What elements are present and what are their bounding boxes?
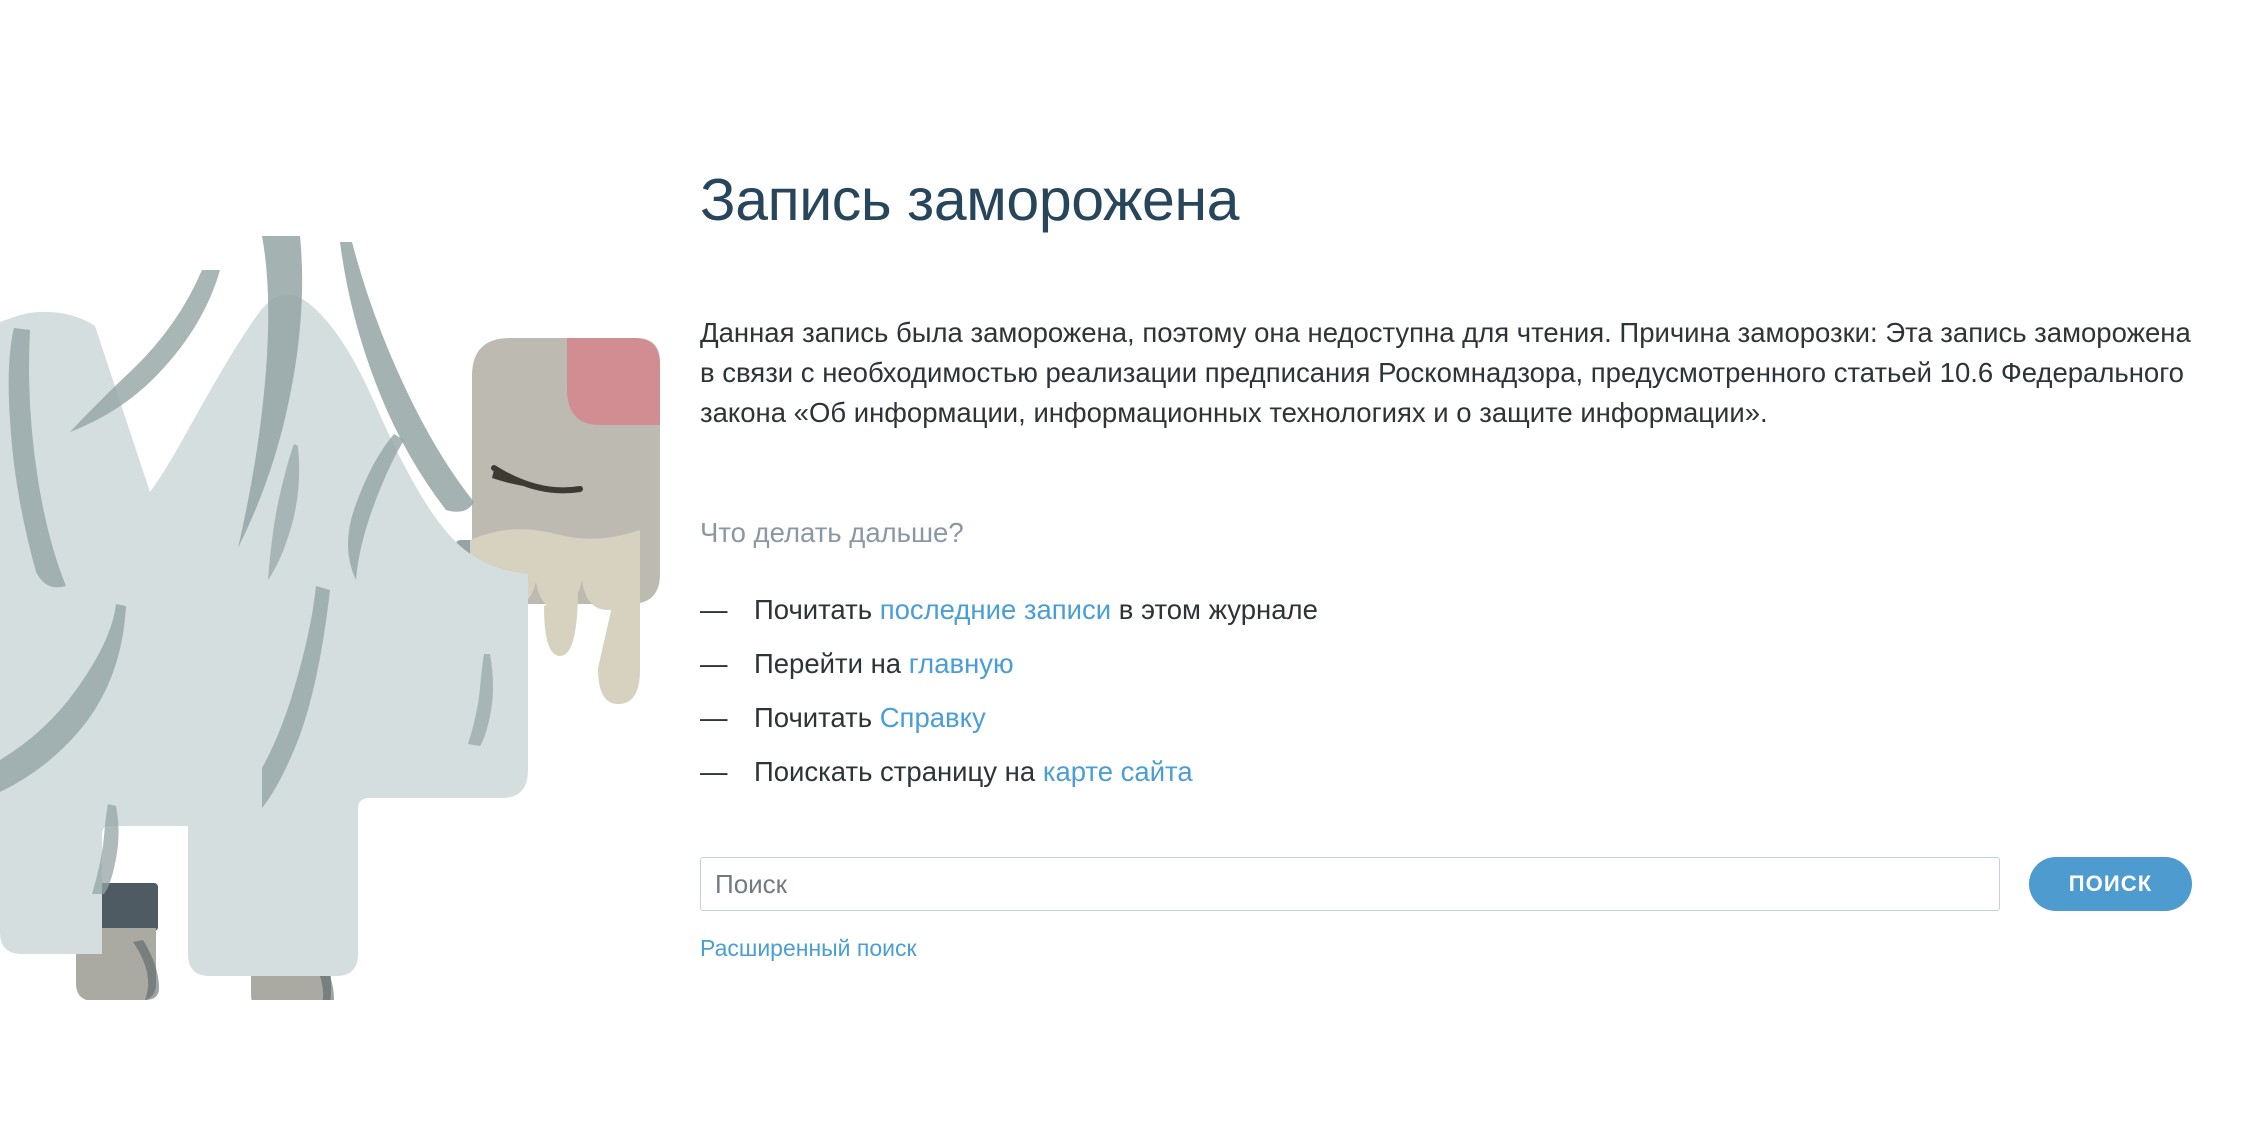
option-text-before: Перейти на [754, 648, 909, 679]
link-sitemap[interactable]: карте сайта [1043, 756, 1193, 787]
ghost-under-sheet-illustration [0, 0, 680, 1000]
option-text-before: Почитать [754, 594, 880, 625]
search-row: ПОИСК [700, 809, 2230, 911]
list-item: — Почитать Справку [700, 701, 2230, 755]
frozen-entry-page: Запись заморожена Данная запись была зам… [0, 0, 2252, 1140]
advanced-search-link[interactable]: Расширенный поиск [700, 911, 917, 962]
bullet-dash: — [700, 593, 754, 626]
list-item: — Почитать последние записи в этом журна… [700, 593, 2230, 647]
next-steps-list: — Почитать последние записи в этом журна… [700, 549, 2230, 809]
list-item: — Поискать страницу на карте сайта [700, 755, 2230, 809]
content-column: Запись заморожена Данная запись была зам… [700, 0, 2230, 962]
link-help[interactable]: Справку [880, 702, 986, 733]
option-text-before: Поискать страницу на [754, 756, 1043, 787]
page-title: Запись заморожена [700, 0, 2230, 233]
whats-next-heading: Что делать дальше? [700, 433, 2230, 549]
list-item: — Перейти на главную [700, 647, 2230, 701]
bullet-dash: — [700, 701, 754, 734]
option-text-before: Почитать [754, 702, 880, 733]
search-input[interactable] [700, 857, 2000, 911]
link-recent-entries[interactable]: последние записи [880, 594, 1111, 625]
bullet-dash: — [700, 647, 754, 680]
link-home[interactable]: главную [909, 648, 1014, 679]
bullet-dash: — [700, 755, 754, 788]
frozen-reason-text: Данная запись была заморожена, поэтому о… [700, 233, 2195, 433]
search-button[interactable]: ПОИСК [2029, 857, 2192, 911]
option-text-after: в этом журнале [1111, 594, 1318, 625]
